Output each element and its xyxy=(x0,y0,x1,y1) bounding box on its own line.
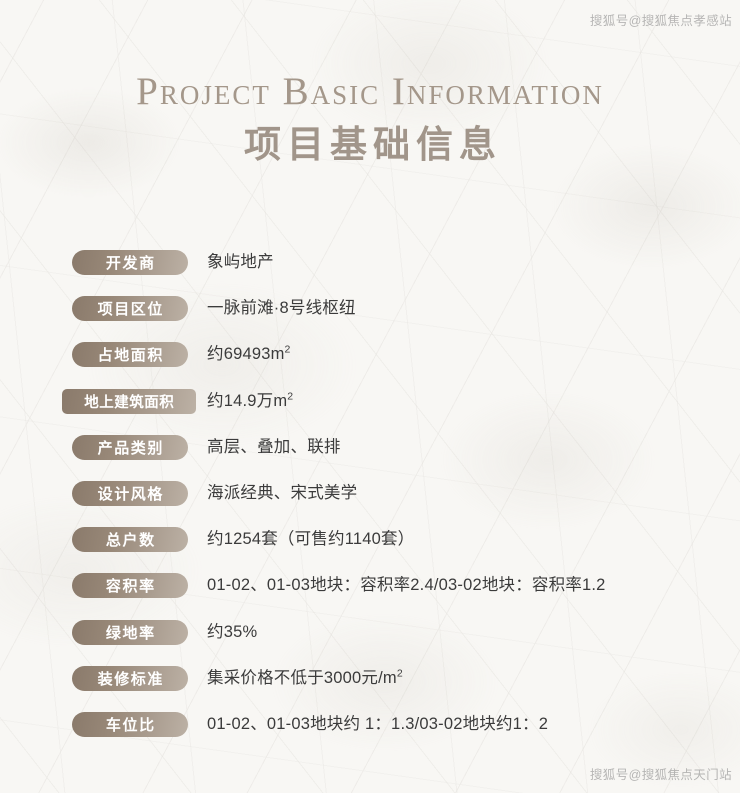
info-row: 装修标准集采价格不低于3000元/m2 xyxy=(0,664,740,710)
watermark-top: 搜狐号@搜狐焦点孝感站 xyxy=(590,10,732,29)
info-row-label-pill: 绿地率 xyxy=(72,620,188,645)
info-row-value: 象屿地产 xyxy=(207,248,274,276)
info-row: 容积率01-02、01-03地块：容积率2.4/03-02地块：容积率1.2 xyxy=(0,571,740,617)
info-row-value: 集采价格不低于3000元/m2 xyxy=(207,664,403,692)
info-row-value-superscript: 2 xyxy=(397,667,403,679)
info-row: 设计风格海派经典、宋式美学 xyxy=(0,479,740,525)
info-row-label-pill: 地上建筑面积 xyxy=(62,389,196,414)
info-row-label-pill: 产品类别 xyxy=(72,435,188,460)
info-row-value: 高层、叠加、联排 xyxy=(207,433,341,461)
info-row-label-pill: 容积率 xyxy=(72,573,188,598)
info-row-label-pill: 开发商 xyxy=(72,250,188,275)
info-row-value: 01-02、01-03地块约 1：1.3/03-02地块约1：2 xyxy=(207,710,548,738)
info-row-value: 约69493m2 xyxy=(207,340,291,368)
info-row: 绿地率约35% xyxy=(0,618,740,664)
info-row-value: 01-02、01-03地块：容积率2.4/03-02地块：容积率1.2 xyxy=(207,571,606,599)
page-title-chinese: 项目基础信息 xyxy=(0,124,740,168)
info-row-list: 开发商象屿地产项目区位一脉前滩·8号线枢纽占地面积约69493m2地上建筑面积约… xyxy=(0,248,740,756)
info-row: 产品类别高层、叠加、联排 xyxy=(0,433,740,479)
info-row-label-pill: 装修标准 xyxy=(72,666,188,691)
info-row-label-pill: 设计风格 xyxy=(72,481,188,506)
info-row: 开发商象屿地产 xyxy=(0,248,740,294)
info-row-label-pill: 车位比 xyxy=(72,712,188,737)
watermark-bottom: 搜狐号@搜狐焦点天门站 xyxy=(590,764,732,783)
info-row: 总户数约1254套（可售约1140套） xyxy=(0,525,740,571)
info-row-value: 一脉前滩·8号线枢纽 xyxy=(207,294,356,322)
info-row-value: 约14.9万m2 xyxy=(207,387,293,415)
info-row-label-pill: 总户数 xyxy=(72,527,188,552)
info-row: 占地面积约69493m2 xyxy=(0,340,740,386)
info-row-value: 约1254套（可售约1140套） xyxy=(207,525,414,553)
info-row-label-pill: 占地面积 xyxy=(72,342,188,367)
info-row: 车位比01-02、01-03地块约 1：1.3/03-02地块约1：2 xyxy=(0,710,740,756)
info-row-value-text: 集采价格不低于3000元/m xyxy=(207,669,397,687)
info-row-value: 约35% xyxy=(207,618,257,646)
info-row-value-superscript: 2 xyxy=(285,344,291,356)
info-row: 地上建筑面积约14.9万m2 xyxy=(0,387,740,433)
info-row-value-superscript: 2 xyxy=(287,390,293,402)
info-row-value-text: 约14.9万m xyxy=(207,392,287,410)
info-row-value-text: 约69493m xyxy=(207,345,285,363)
info-row-label-pill: 项目区位 xyxy=(72,296,188,321)
info-row-value: 海派经典、宋式美学 xyxy=(207,479,357,507)
page-title-english: Project Basic Information xyxy=(0,72,740,111)
info-row: 项目区位一脉前滩·8号线枢纽 xyxy=(0,294,740,340)
